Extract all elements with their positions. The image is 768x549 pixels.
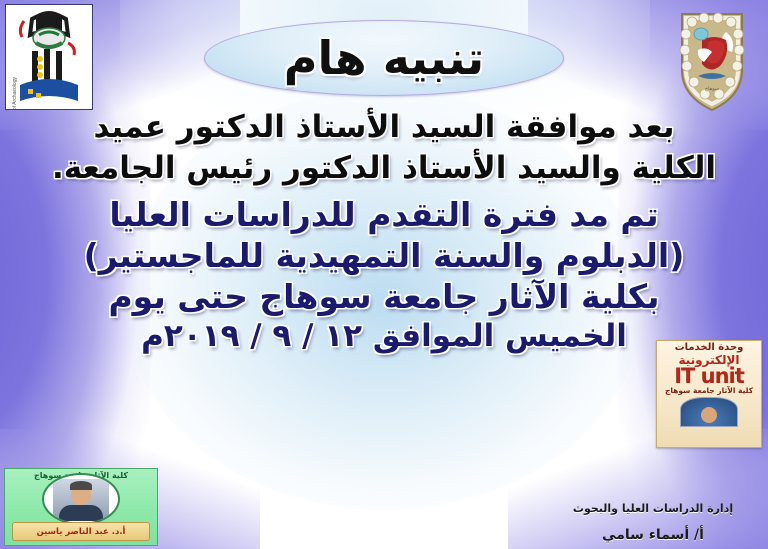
footer-signature-block: إدارة الدراسات العليا والبحوث أ/ أسماء س… — [548, 502, 758, 543]
poster-canvas: Faculty of Archaeology سوهاج — [0, 0, 768, 549]
university-logo: سوهاج — [664, 4, 760, 116]
title-text: تنبيه هام — [284, 31, 484, 85]
announcement-line-3: تم مد فترة التقدم للدراسات العليا — [18, 198, 750, 231]
announcement-line-6: الخميس الموافق ١٢ / ٩ / ٢٠١٩م — [18, 321, 750, 352]
svg-text:Faculty of Archaeology: Faculty of Archaeology — [12, 77, 18, 109]
it-unit-photo — [680, 397, 738, 427]
dean-name-text: أ.د. عبد الناصر ياسين — [37, 527, 126, 537]
announcement-body: بعد موافقة السيد الأستاذ الدكتور عميد ال… — [0, 112, 768, 360]
dean-portrait-photo — [53, 479, 109, 521]
it-unit-line-4: كلية الآثار جامعة سوهاج — [657, 387, 761, 395]
announcement-line-5: بكلية الآثار جامعة سوهاج حتى يوم — [18, 280, 750, 313]
dean-portrait-hair — [70, 481, 92, 490]
dean-seal-badge: كلية الآثار جامعة سوهاج أ.د. عبد الناصر … — [4, 468, 158, 546]
announcement-line-1: بعد موافقة السيد الأستاذ الدكتور عميد — [18, 112, 750, 143]
it-unit-logo: وحدة الخدمات الإلكترونية IT unit كلية ال… — [656, 340, 762, 448]
footer-signature-name: أ/ أسماء سامي — [548, 527, 758, 543]
announcement-line-2: الكلية والسيد الأستاذ الدكتور رئيس الجام… — [18, 153, 750, 184]
dean-portrait-ring — [42, 473, 120, 525]
footer-department: إدارة الدراسات العليا والبحوث — [548, 502, 758, 515]
it-unit-line-3: IT unit — [657, 366, 761, 387]
it-unit-portrait-face — [701, 407, 717, 423]
announcement-line-4: (الدبلوم والسنة التمهيدية للماجستير) — [18, 239, 750, 272]
svg-text:سوهاج: سوهاج — [705, 86, 719, 92]
it-unit-line-1: وحدة الخدمات — [657, 343, 761, 354]
poster-title: تنبيه هام — [204, 20, 564, 96]
dean-name-plate: أ.د. عبد الناصر ياسين — [12, 522, 150, 541]
faculty-logo: Faculty of Archaeology — [5, 4, 93, 110]
dean-portrait-body — [59, 505, 103, 521]
